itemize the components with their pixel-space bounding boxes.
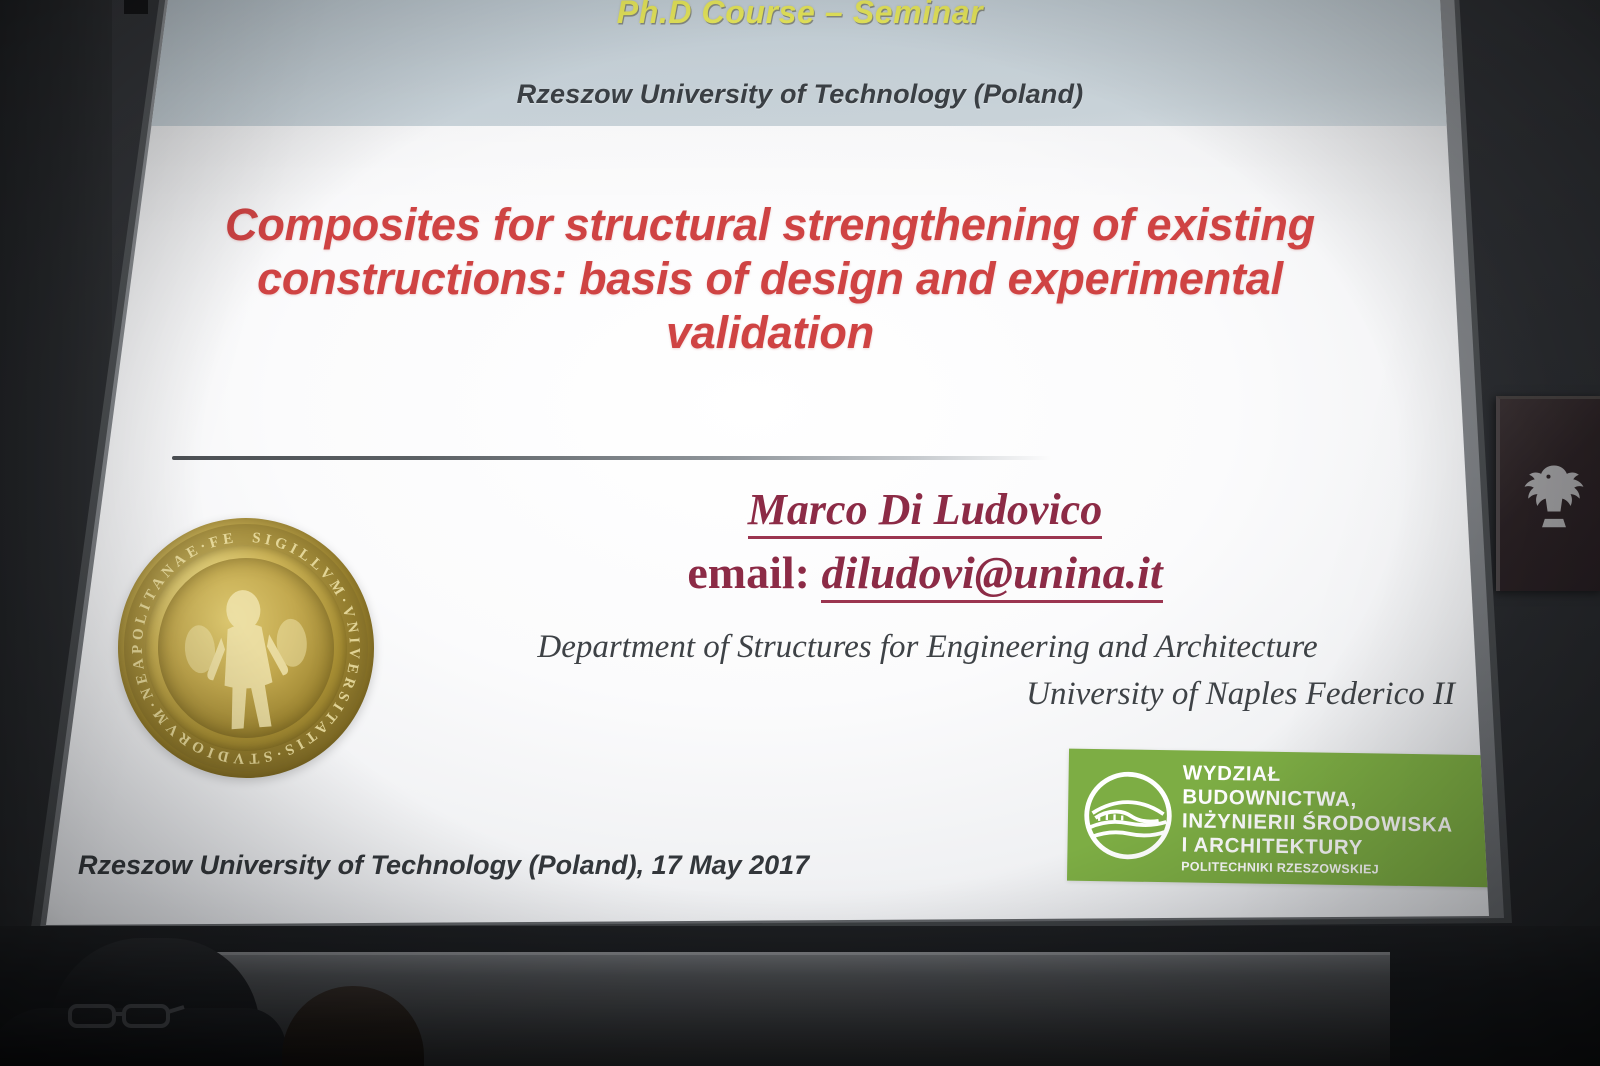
university-seal-medallion: SIGILLVM·VNIVERSITATIS·STVDIORVM·NEAPOLI… xyxy=(109,509,383,786)
slide-kicker: Ph.D Course – Seminar xyxy=(0,0,1600,31)
faculty-logo-line-4: I ARCHITEKTURY xyxy=(1181,833,1363,859)
wall-plaque xyxy=(1496,396,1600,591)
slide-title: Composites for structural strengthening … xyxy=(150,198,1390,360)
email-address[interactable]: diludovi@unina.it xyxy=(821,547,1162,603)
slide-footer: Rzeszow University of Technology (Poland… xyxy=(78,850,809,881)
screenshot-stage: Ph.D Course – Seminar Rzeszow University… xyxy=(0,0,1600,1066)
faculty-logo: WYDZIAŁ BUDOWNICTWA, INŻYNIERII ŚRODOWIS… xyxy=(1067,749,1499,888)
author-name-text: Marco Di Ludovico xyxy=(748,485,1102,539)
eagle-emblem-icon xyxy=(1508,447,1600,543)
seal-engraving-icon: SIGILLVM·VNIVERSITATIS·STVDIORVM·NEAPOLI… xyxy=(109,509,383,786)
faculty-logo-line-1: WYDZIAŁ xyxy=(1183,761,1282,786)
faculty-logo-subline: POLITECHNIKI RZESZOWSKIEJ xyxy=(1181,857,1497,879)
eyeglasses-icon xyxy=(66,1000,186,1030)
author-name: Marco Di Ludovico xyxy=(420,484,1430,535)
faculty-logo-line-2: BUDOWNICTWA, xyxy=(1182,785,1357,811)
author-affiliation: Department of Structures for Engineering… xyxy=(400,624,1455,718)
faculty-logo-text: WYDZIAŁ BUDOWNICTWA, INŻYNIERII ŚRODOWIS… xyxy=(1181,758,1499,879)
wall-top-notch xyxy=(124,0,148,14)
projected-slide: Ph.D Course – Seminar Rzeszow University… xyxy=(0,0,1600,1066)
faculty-logo-line-3: INŻYNIERII ŚRODOWISKA xyxy=(1182,809,1453,836)
faculty-bridge-logo-icon xyxy=(1079,767,1176,864)
email-label: email: xyxy=(687,547,810,598)
author-email-row: email: diludovi@unina.it xyxy=(420,546,1430,599)
slide-institution: Rzeszow University of Technology (Poland… xyxy=(0,79,1600,110)
affiliation-line-1: Department of Structures for Engineering… xyxy=(400,624,1455,671)
affiliation-line-2: University of Naples Federico II xyxy=(400,671,1455,718)
slide-divider xyxy=(172,456,1052,460)
